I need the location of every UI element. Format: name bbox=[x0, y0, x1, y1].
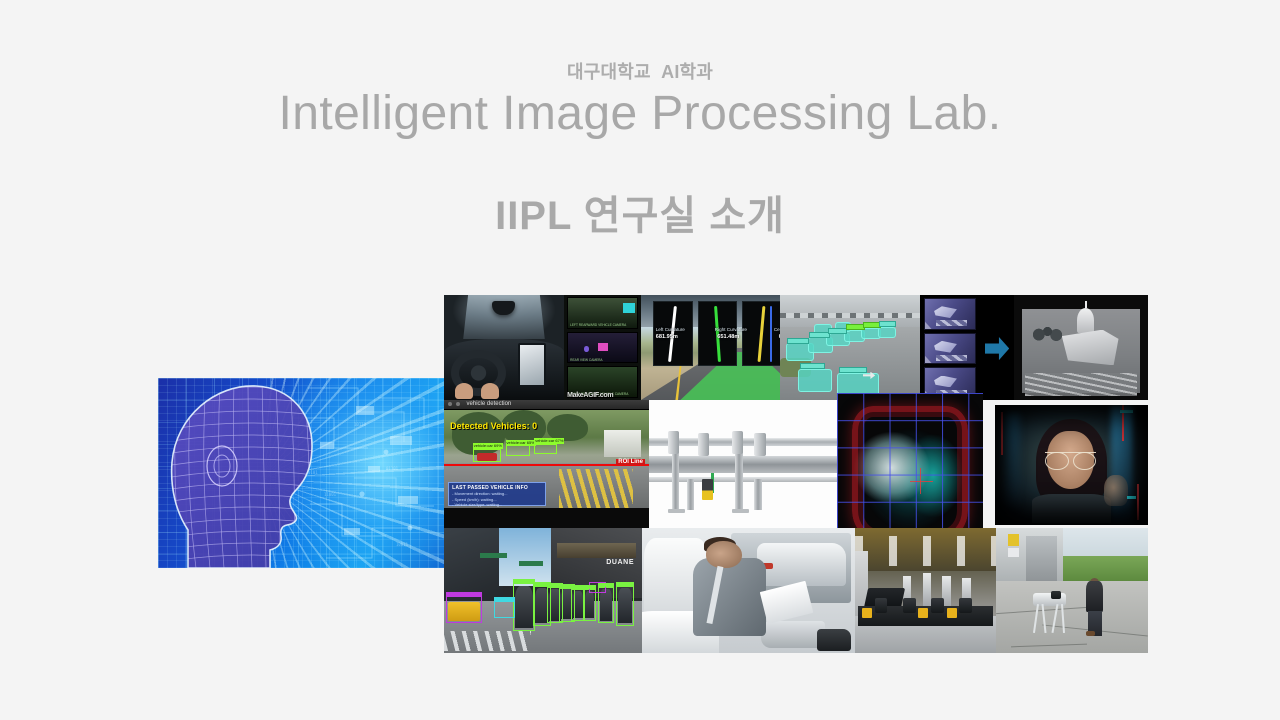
robot-pod-4 bbox=[959, 598, 972, 613]
building-dome bbox=[1077, 308, 1094, 333]
tile-aerial-stack bbox=[920, 295, 980, 400]
street-scene: vehicle:car 69% vehicle:car 65% vehicle:… bbox=[444, 410, 649, 507]
walking-person bbox=[1084, 578, 1105, 636]
wireframe-head bbox=[160, 380, 340, 568]
robot-head bbox=[1051, 591, 1061, 600]
tile-autonomous-cabin bbox=[642, 528, 855, 653]
tile-quadruped-robot bbox=[996, 528, 1148, 653]
store-awning bbox=[557, 543, 636, 558]
lab-title: Intelligent Image Processing Lab. bbox=[0, 86, 1280, 141]
driver-hand-left bbox=[455, 383, 473, 399]
mounted-sensor bbox=[702, 479, 713, 499]
presentation-slide: 대구대학교 AI학과 Intelligent Image Processing … bbox=[0, 0, 1280, 720]
detection-tag-violet bbox=[584, 346, 589, 351]
aerial-view-2 bbox=[924, 333, 976, 365]
person-coat bbox=[1086, 581, 1103, 612]
clamp-2 bbox=[698, 433, 709, 456]
parking-rows bbox=[1025, 373, 1138, 396]
driver-hand-right bbox=[481, 383, 499, 399]
store-signage: DUANE bbox=[606, 559, 634, 566]
concrete-pad bbox=[996, 581, 1148, 654]
grass-field bbox=[1057, 556, 1148, 581]
detection-label-2: vehicle:car 65% bbox=[506, 440, 536, 446]
tile-3d-reconstruction bbox=[1014, 295, 1148, 400]
passing-vehicle bbox=[757, 543, 846, 586]
passenger-torso bbox=[693, 558, 765, 636]
tile-parking-segmentation bbox=[780, 295, 920, 400]
detected-vehicle-counter: Detected Vehicles: 0 bbox=[450, 421, 537, 431]
tile-warehouse-robotics bbox=[855, 528, 996, 653]
ai-wireframe-head-image: 101100110111001 100110101 bbox=[158, 378, 444, 568]
tree-cluster bbox=[1033, 322, 1062, 343]
window-title: vehicle detection bbox=[467, 401, 512, 407]
watermark: MakeAGIF.com bbox=[567, 392, 613, 399]
street-sign-2 bbox=[519, 561, 543, 566]
metric-value-right-curvature: 651.48m bbox=[717, 334, 739, 340]
detection-label-3: vehicle:car 67% bbox=[534, 438, 564, 444]
aerial-view-1 bbox=[924, 298, 976, 330]
passenger-head bbox=[706, 541, 742, 569]
clamp-1 bbox=[668, 431, 679, 454]
quadruped-robot bbox=[1029, 591, 1069, 634]
base-plate-2 bbox=[732, 509, 749, 513]
clamp-3 bbox=[732, 431, 743, 454]
detection-tag-cyan bbox=[623, 303, 635, 312]
research-image-collage: LEFT REARWARD VEHICLE CAMERA REAR VIEW C… bbox=[444, 295, 1148, 653]
robot-pod-3 bbox=[931, 598, 944, 613]
right-arrow-icon bbox=[985, 337, 1009, 360]
roadside-house bbox=[604, 430, 641, 457]
tile-tesla-interior bbox=[444, 295, 564, 400]
tile-face-recognition bbox=[995, 405, 1148, 525]
passenger-legs bbox=[761, 621, 825, 649]
crosshair-horizontal bbox=[910, 481, 933, 482]
tile-night-vision-cams: LEFT REARWARD VEHICLE CAMERA REAR VIEW C… bbox=[564, 295, 641, 400]
tile-pipeline-arrow bbox=[980, 295, 1014, 400]
street-sign-1 bbox=[480, 553, 508, 558]
person-shoe bbox=[1086, 631, 1095, 636]
post-brace-2 bbox=[754, 479, 762, 510]
post-brace-1 bbox=[687, 479, 695, 510]
clamp-4 bbox=[754, 433, 765, 456]
base-plate-1 bbox=[668, 509, 685, 513]
metric-label-left-curvature: Left Curvature bbox=[656, 327, 685, 332]
wall-sign-white bbox=[1008, 548, 1019, 557]
lane-thumb-3 bbox=[742, 301, 781, 366]
slide-subtitle: IIPL 연구실 소개 bbox=[0, 183, 1280, 241]
tile-pedestrian-detection: DUANE bbox=[444, 528, 642, 653]
roi-line-label: ROI Line bbox=[616, 459, 645, 465]
yellow-center-line bbox=[559, 469, 633, 508]
window-titlebar[interactable]: vehicle detection bbox=[444, 400, 649, 410]
detection-tag-magenta bbox=[598, 343, 608, 350]
crosshair-vertical bbox=[920, 468, 921, 494]
robot-pod-1 bbox=[875, 598, 888, 613]
camera-left-rear: LEFT REARWARD VEHICLE CAMERA bbox=[567, 297, 638, 329]
tile-guardrail-cad bbox=[649, 400, 837, 528]
metric-value-left-curvature: 681.95m bbox=[656, 334, 678, 340]
tile-vehicle-detection: vehicle detection vehicle:car 69% vehicl… bbox=[444, 400, 649, 528]
robot-pod-2 bbox=[903, 598, 916, 613]
crosswalk bbox=[444, 631, 531, 651]
ceiling-lights bbox=[855, 536, 996, 566]
passenger-shoe bbox=[817, 629, 851, 650]
department-line: 대구대학교 AI학과 bbox=[0, 58, 1280, 84]
hangar-door bbox=[1026, 536, 1056, 586]
last-passed-vehicle-info: LAST PASSED VEHICLE INFO - Movement dire… bbox=[448, 482, 546, 505]
center-display bbox=[518, 343, 546, 387]
vignette bbox=[995, 405, 1148, 525]
info-line-3: - Vehicle size/type: waiting... bbox=[452, 502, 542, 507]
wall-sign-yellow bbox=[1008, 534, 1019, 545]
detection-label-1: vehicle:car 69% bbox=[473, 443, 503, 449]
metric-label-right-curvature: Right Curvature bbox=[715, 327, 747, 332]
